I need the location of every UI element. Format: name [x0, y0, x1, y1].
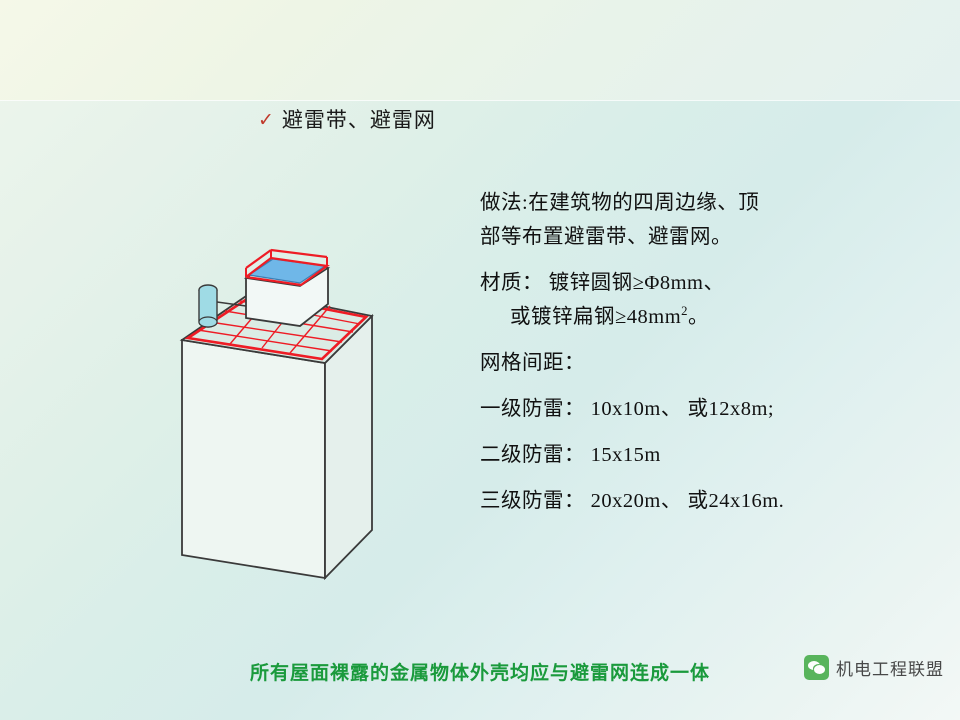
watermark-label: 机电工程联盟 — [836, 655, 944, 680]
paragraph-material: 材质： 镀锌圆钢≥Φ8mm、 或镀锌扁钢≥48mm2。 — [480, 266, 940, 334]
grade-3-line: 三级防雷： 20x20m、 或24x16m. — [480, 484, 940, 518]
check-icon: ✓ — [258, 111, 274, 130]
wechat-icon — [804, 655, 829, 680]
material-line-2: 或镀锌扁钢≥48mm2。 — [480, 300, 940, 334]
grade-2-line: 二级防雷： 15x15m — [480, 438, 940, 472]
paragraph-method: 做法:在建筑物的四周边缘、顶 部等布置避雷带、避雷网。 — [480, 186, 940, 254]
method-line-1: 做法:在建筑物的四周边缘、顶 — [480, 186, 940, 220]
grid-spacing-title: 网格间距： — [480, 346, 940, 380]
material-line-1: 材质： 镀锌圆钢≥Φ8mm、 — [480, 266, 940, 300]
bullet-heading-label: 避雷带、避雷网 — [282, 104, 436, 134]
paragraph-grade-3: 三级防雷： 20x20m、 或24x16m. — [480, 484, 940, 518]
paragraph-grade-2: 二级防雷： 15x15m — [480, 438, 940, 472]
paragraph-grade-1: 一级防雷： 10x10m、 或12x8m; — [480, 392, 940, 426]
description-text-block: 做法:在建筑物的四周边缘、顶 部等布置避雷带、避雷网。 材质： 镀锌圆钢≥Φ8m… — [480, 186, 940, 530]
grade-1-line: 一级防雷： 10x10m、 或12x8m; — [480, 392, 940, 426]
top-background-band — [0, 0, 960, 100]
paragraph-grid-title: 网格间距： — [480, 346, 940, 380]
watermark: 机电工程联盟 — [804, 655, 944, 680]
band-divider — [0, 100, 960, 101]
building-lightning-net-diagram — [150, 230, 450, 580]
slide-canvas: ✓ 避雷带、避雷网 — [0, 0, 960, 720]
method-line-2: 部等布置避雷带、避雷网。 — [480, 220, 940, 254]
bullet-heading: ✓ 避雷带、避雷网 — [258, 104, 436, 134]
